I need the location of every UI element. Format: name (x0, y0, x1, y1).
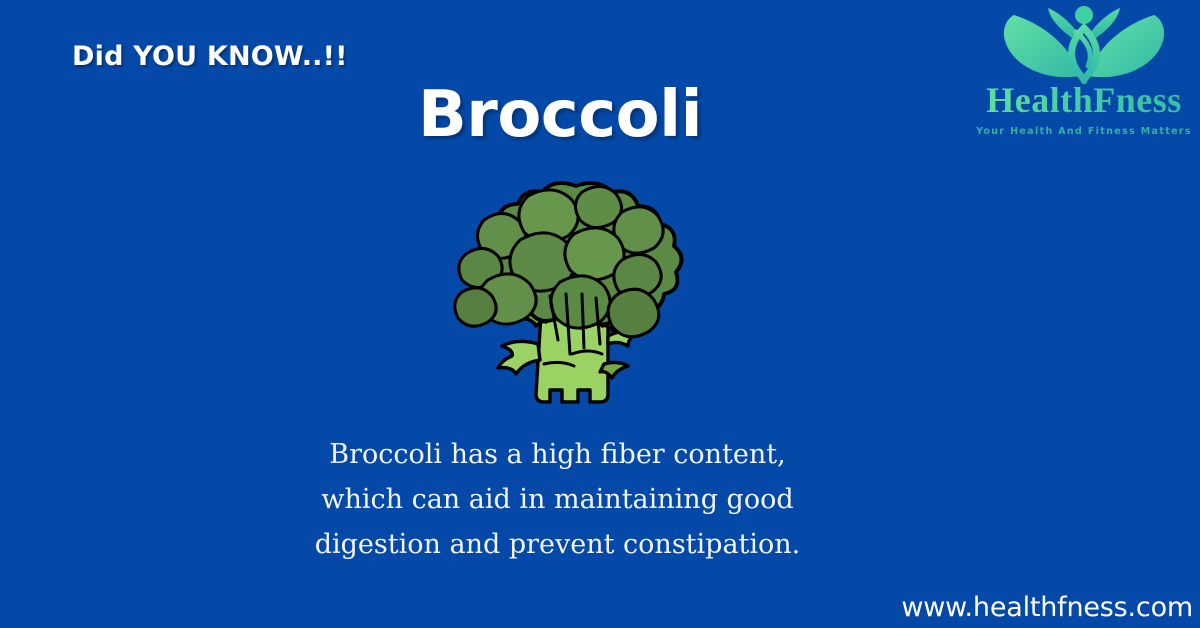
broccoli-illustration (432, 168, 720, 418)
brand-wordmark: HealthFness (974, 82, 1194, 120)
fact-line-1: Broccoli has a high fiber content, (0, 432, 1115, 477)
leaves-and-figure-icon (984, 2, 1184, 84)
brand-logo: HealthFness Your Health And Fitness Matt… (974, 2, 1194, 137)
fact-line-2: which can aid in maintaining good (0, 477, 1115, 522)
page-title: Broccoli (0, 82, 1120, 149)
fact-line-3: digestion and prevent constipation. (0, 522, 1115, 567)
poster-canvas: Did YOU KNOW..!! Broccoli (0, 0, 1200, 628)
site-url-label: www.healthfness.com (901, 592, 1193, 623)
fact-text: Broccoli has a high fiber content, which… (0, 432, 1115, 567)
brand-tagline: Your Health And Fitness Matters (974, 126, 1194, 137)
did-you-know-label: Did YOU KNOW..!! (72, 41, 348, 72)
